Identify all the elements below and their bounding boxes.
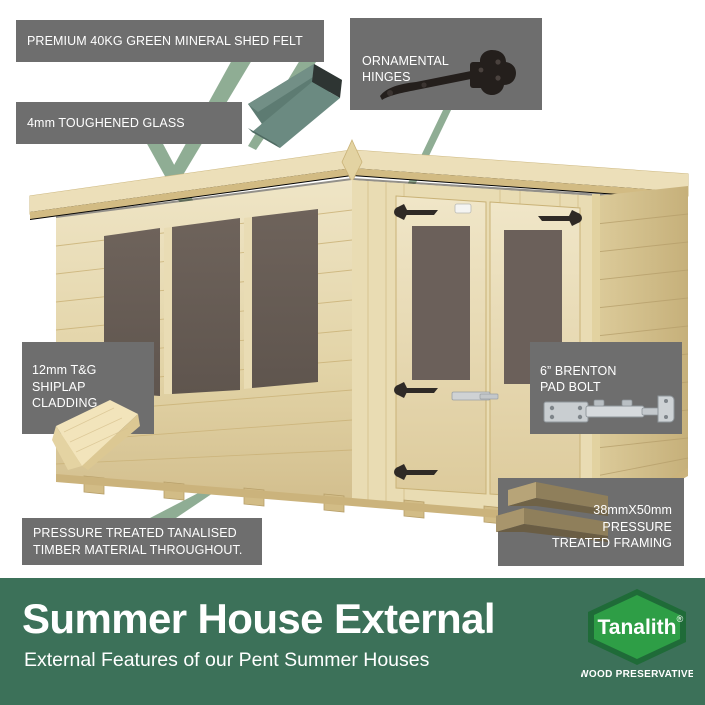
callout-timber-framing-label: 38mmX50mm PRESSURE TREATED FRAMING (552, 502, 684, 552)
logo-tagline: WOOD PRESERVATIVE (581, 669, 693, 680)
page-subtitle: External Features of our Pent Summer Hou… (24, 650, 429, 671)
callout-ornamental-hinges-label: ORNAMENTAL HINGES (350, 43, 461, 86)
callout-toughened-glass: 4mm TOUGHENED GLASS (16, 102, 242, 144)
callout-shiplap-cladding-label: 12mm T&G SHIPLAP CLADDING (22, 354, 97, 412)
logo-brand-text: Tanalith (598, 616, 677, 639)
tanalith-logo: Tanalith ® WOOD PRESERVATIVE (581, 586, 693, 682)
callout-ornamental-hinges: ORNAMENTAL HINGES (350, 18, 542, 110)
door-catch (455, 204, 471, 213)
callout-toughened-glass-label: 4mm TOUGHENED GLASS (27, 115, 231, 132)
callout-timber-framing: 38mmX50mm PRESSURE TREATED FRAMING (498, 478, 684, 566)
callout-brenton-pad-bolt-label: 6” BRENTON PAD BOLT (530, 355, 616, 396)
callout-pressure-treated-label: PRESSURE TREATED TANALISED TIMBER MATERI… (33, 525, 251, 558)
page-title: Summer House External (22, 598, 495, 640)
callout-roof-felt-label: PREMIUM 40KG GREEN MINERAL SHED FELT (27, 33, 313, 50)
infographic-page: PREMIUM 40KG GREEN MINERAL SHED FELT 4mm… (0, 0, 705, 705)
roof-felt-roll-image (228, 52, 348, 152)
footer-banner: Summer House External External Features … (0, 578, 705, 705)
callout-pressure-treated: PRESSURE TREATED TANALISED TIMBER MATERI… (22, 518, 262, 565)
callout-brenton-pad-bolt: 6” BRENTON PAD BOLT (530, 342, 682, 434)
logo-registered-mark: ® (677, 614, 684, 624)
